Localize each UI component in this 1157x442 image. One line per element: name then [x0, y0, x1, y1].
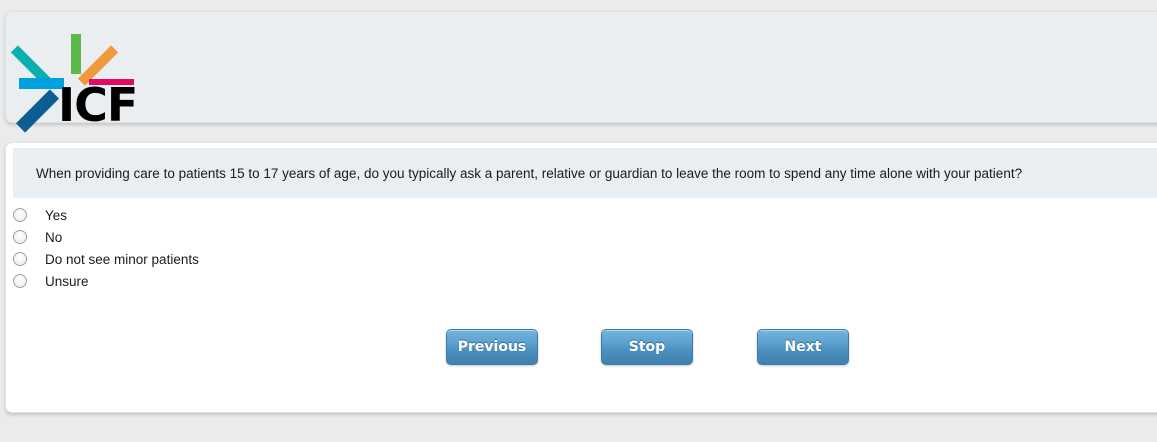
option-label-no: No — [45, 230, 62, 245]
survey-content-panel: When providing care to patients 15 to 17… — [5, 142, 1157, 413]
next-button[interactable]: Next — [757, 329, 849, 365]
logo-ray-green-icon — [71, 34, 81, 74]
option-row-yes[interactable]: Yes — [6, 204, 1157, 226]
question-text: When providing care to patients 15 to 17… — [13, 166, 1022, 181]
stop-button[interactable]: Stop — [601, 329, 693, 365]
navigation-button-bar: Previous Stop Next — [6, 329, 1157, 369]
radio-button-yes[interactable] — [13, 208, 27, 222]
logo-ray-dark-blue-icon — [16, 89, 59, 132]
option-row-unsure[interactable]: Unsure — [6, 270, 1157, 292]
option-row-do-not-see-minor-patients[interactable]: Do not see minor patients — [6, 248, 1157, 270]
option-label-unsure: Unsure — [45, 274, 89, 289]
header-panel: ICF — [5, 11, 1157, 123]
question-band: When providing care to patients 15 to 17… — [13, 148, 1157, 198]
previous-button[interactable]: Previous — [446, 329, 538, 365]
radio-button-unsure[interactable] — [13, 274, 27, 288]
radio-button-no[interactable] — [13, 230, 27, 244]
radio-button-do-not-see-minor-patients[interactable] — [13, 252, 27, 266]
option-label-yes: Yes — [45, 208, 67, 223]
answer-options-group: Yes No Do not see minor patients Unsure — [6, 204, 1157, 292]
logo-wordmark: ICF — [58, 82, 137, 128]
option-label-do-not-see-minor-patients: Do not see minor patients — [45, 252, 199, 267]
option-row-no[interactable]: No — [6, 226, 1157, 248]
icf-sunburst-logo: ICF — [14, 18, 164, 123]
